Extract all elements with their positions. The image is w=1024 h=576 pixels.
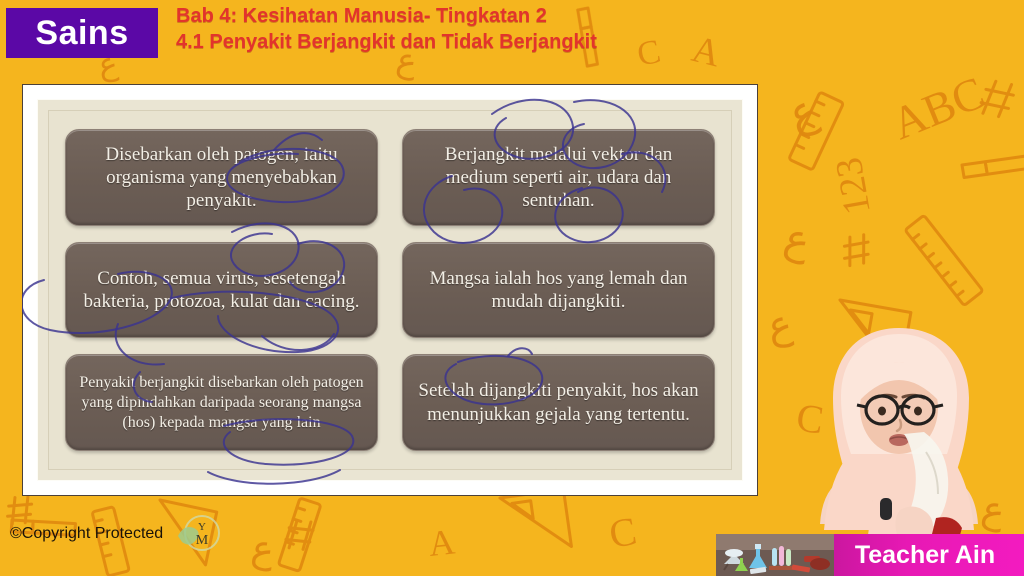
concept-box-6-text: Setelah dijangkiti penyakit, hos akan me…: [415, 379, 702, 425]
svg-text:A: A: [427, 521, 457, 563]
ym-monogram-icon: Y M: [172, 514, 226, 554]
concept-grid: Disebarkan oleh patogen, iaitu organisma…: [48, 110, 732, 470]
lesson-title-line1: Bab 4: Kesihatan Manusia- Tingkatan 2: [176, 6, 597, 28]
subject-badge: Sains: [6, 8, 158, 58]
concept-box-4-text: Mangsa ialah hos yang lemah dan mudah di…: [415, 267, 702, 313]
svg-text:Y: Y: [198, 521, 206, 533]
lab-equipment-image: [716, 534, 834, 576]
teacher-name-label: Teacher Ain: [834, 541, 1024, 570]
copyright-text: ©Copyright Protected: [10, 525, 163, 543]
lesson-title-line2: 4.1 Penyakit Berjangkit dan Tidak Berjan…: [176, 32, 597, 54]
header: Sains Bab 4: Kesihatan Manusia- Tingkata…: [0, 0, 1024, 78]
concept-box-5: Penyakit berjangkit disebarkan oleh pato…: [65, 354, 378, 451]
copyright-notice: ©Copyright Protected Y M: [10, 514, 226, 554]
subject-badge-label: Sains: [35, 14, 128, 53]
webcam-presenter: [774, 312, 1024, 542]
concept-box-4: Mangsa ialah hos yang lemah dan mudah di…: [402, 242, 715, 339]
concept-box-1-text: Disebarkan oleh patogen, iaitu organisma…: [78, 143, 365, 213]
svg-text:M: M: [196, 533, 209, 548]
concept-box-5-text: Penyakit berjangkit disebarkan oleh pato…: [78, 373, 365, 432]
slide-inner-frame: Disebarkan oleh patogen, iaitu organisma…: [37, 99, 743, 481]
teacher-banner: Teacher Ain: [716, 534, 1024, 576]
concept-box-6: Setelah dijangkiti penyakit, hos akan me…: [402, 354, 715, 451]
slide-frame: Disebarkan oleh patogen, iaitu organisma…: [22, 84, 758, 496]
concept-box-3-text: Contoh, semua virus, sesetengah bakteria…: [78, 267, 365, 313]
concept-box-1: Disebarkan oleh patogen, iaitu organisma…: [65, 129, 378, 226]
concept-box-2: Berjangkit melalui vektor dan medium sep…: [402, 129, 715, 226]
concept-box-3: Contoh, semua virus, sesetengah bakteria…: [65, 242, 378, 339]
lesson-title-group: Bab 4: Kesihatan Manusia- Tingkatan 2 4.…: [176, 6, 597, 53]
concept-box-2-text: Berjangkit melalui vektor dan medium sep…: [415, 143, 702, 213]
